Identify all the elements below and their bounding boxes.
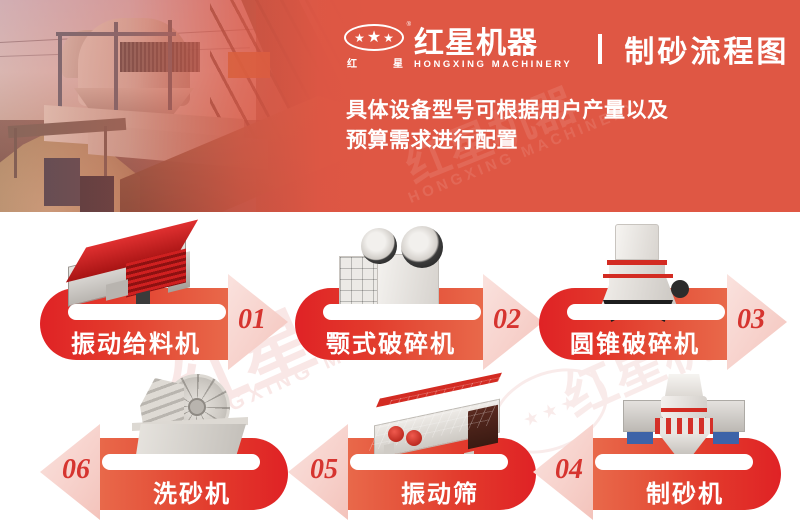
flow-step-05-label: 振动筛 [344,474,536,509]
logo-oval-stars-icon: ★ ★ ★ [344,24,404,51]
flow-step-05[interactable]: 振动筛 05 [286,370,544,520]
logo-char-xing: 星 [393,55,403,70]
flow-step-06-label: 洗砂机 [96,474,288,509]
header-subtitle-line1: 具体设备型号可根据用户产量以及 [346,96,746,126]
hongxing-logo-mark: ★ ★ ★ ® 红 星 [344,22,406,76]
brand-name-cn: 红星机器 [414,28,572,60]
flow-step-03[interactable]: 圆锥破碎机 03 [531,220,789,370]
flow-grid: 振动给料机 01 颚式破碎机 02 圆锥破碎机 [0,212,800,530]
flow-step-04-label: 制砂机 [589,474,781,509]
flow-step-02-pill [323,304,481,320]
flow-step-01[interactable]: 振动给料机 01 [32,220,290,370]
flow-step-06-number: 06 [54,454,98,486]
flow-step-04[interactable]: 制砂机 04 [531,370,789,520]
page-title: 制砂流程图 [624,27,789,71]
header-banner: 红星机器 HONGXING MACHINERY ★ ★ ★ ® 红 星 红星机器… [0,0,800,212]
brand-name-en: HONGXING MACHINERY [414,60,572,70]
header-divider [598,34,602,64]
flow-step-03-number: 03 [729,304,773,336]
flow-step-06-pill [102,454,260,470]
logo-char-hong: 红 [347,55,357,70]
makesand-flow-infographic: 红星机器 HONGXING MACHINERY ★ ★ ★ ® 红 星 红星机器… [0,0,800,530]
flow-step-06[interactable]: 洗砂机 06 [38,370,296,520]
flow-step-03-label: 圆锥破碎机 [539,324,731,359]
brand-text: 红星机器 HONGXING MACHINERY [414,28,572,71]
star-icon-center: ★ [367,30,381,46]
flow-step-05-pill [350,454,508,470]
registered-trademark-icon: ® [407,22,411,28]
header-subtitle: 具体设备型号可根据用户产量以及 预算需求进行配置 [346,96,746,157]
flow-step-03-pill [567,304,725,320]
flow-step-02[interactable]: 颚式破碎机 02 [287,220,545,370]
logo-cn-chars: 红 星 [347,55,403,70]
flow-step-01-number: 01 [230,304,274,336]
star-icon-right: ★ [383,32,394,44]
header-subtitle-line2: 预算需求进行配置 [346,126,746,156]
flow-step-04-number: 04 [547,454,591,486]
flow-step-02-label: 颚式破碎机 [295,324,487,359]
flow-step-02-number: 02 [485,304,529,336]
flow-step-05-number: 05 [302,454,346,486]
flow-step-01-label: 振动给料机 [40,324,232,359]
flow-step-01-pill [68,304,226,320]
brand-logo-row: ★ ★ ★ ® 红 星 红星机器 HONGXING MACHINERY 制砂流程… [344,22,789,76]
star-icon-left: ★ [354,32,365,44]
flow-step-04-pill [595,454,753,470]
